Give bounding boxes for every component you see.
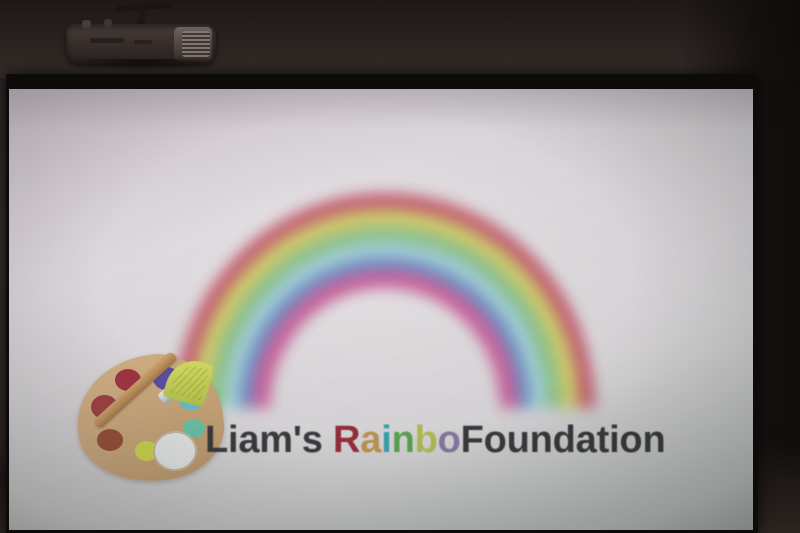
projector-shadow [70,59,215,71]
projector-knob-left [82,20,91,28]
projector-panel-line [90,38,124,43]
projector-vents-icon [182,31,210,57]
screen-vignette [9,89,753,530]
room-scene: Liam's RainboFoundation Presented by: Er… [0,0,800,533]
ceiling-projector [64,4,220,66]
projector-panel-line-2 [134,40,152,44]
projection-screen: Liam's RainboFoundation Presented by: Er… [9,89,753,530]
projector-knob-right [104,19,112,27]
